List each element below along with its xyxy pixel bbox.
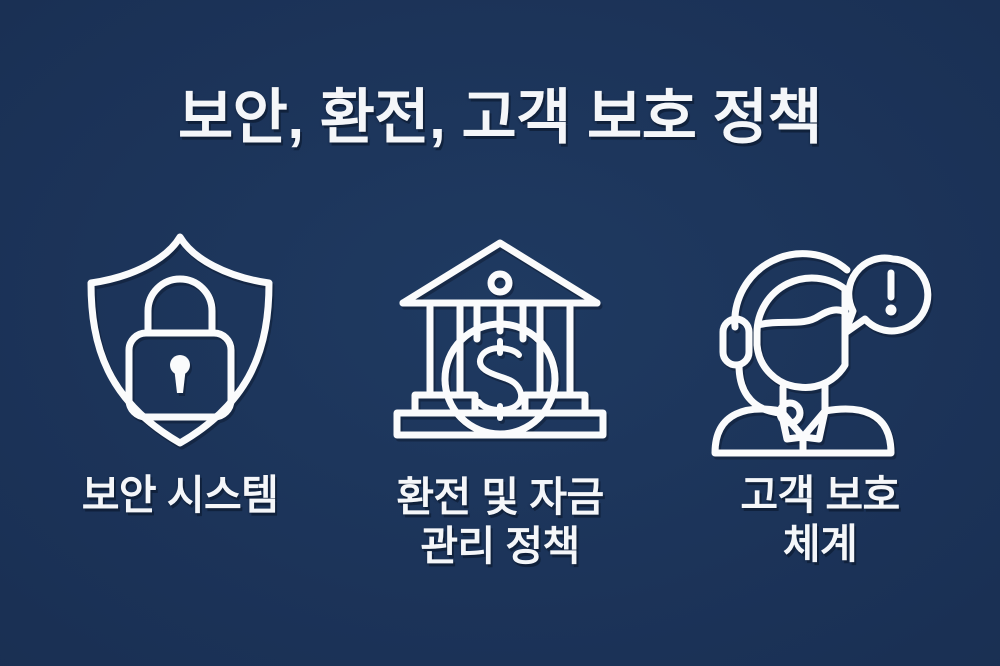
card-exchange: 환전 및 자금 관리 정책 [340,213,660,570]
shield-lock-icon [55,215,305,465]
title-section: 보안, 환전, 고객 보호 정책 [0,46,1000,189]
poster-root: 보안, 환전, 고객 보호 정책 보안 시스템 [0,0,1000,666]
feature-cards: 보안 시스템 [0,213,1000,666]
customer-support-agent-icon [695,215,945,465]
card-security-caption: 보안 시스템 [82,471,278,519]
card-support: 고객 보호 체계 [660,213,980,568]
card-support-caption: 고객 보호 체계 [740,471,899,568]
page-title: 보안, 환전, 고객 보호 정책 [178,86,822,149]
card-exchange-caption: 환전 및 자금 관리 정책 [396,473,603,570]
card-security: 보안 시스템 [20,213,340,519]
bank-dollar-icon [375,217,625,467]
